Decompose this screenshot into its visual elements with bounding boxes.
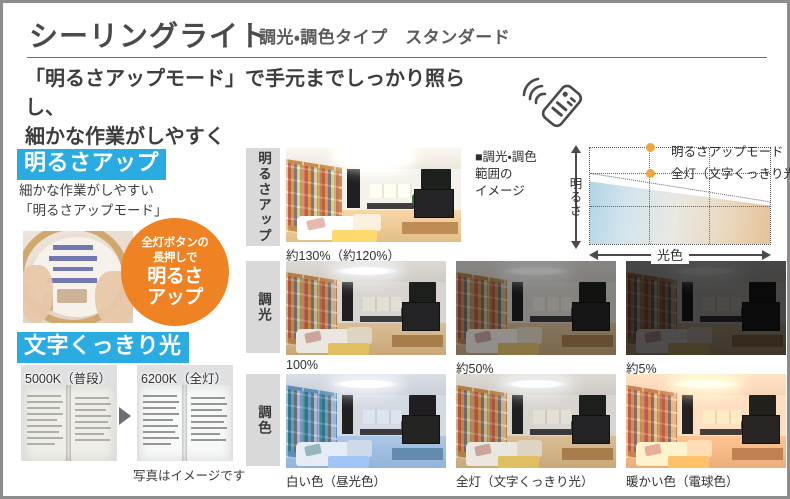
book-comparison: 5000K（普段） bbox=[21, 365, 233, 461]
photo-caption: 暖かい色（電球色） bbox=[626, 471, 739, 490]
page-title: シーリングライト bbox=[29, 13, 269, 55]
dimming-range-chart: ■調光・調色 範囲の イメージ 明るさ 明るさアップモード 全灯（文字くっきり光… bbox=[475, 137, 787, 263]
header-divider bbox=[27, 57, 767, 58]
circle-badge-small-2: 長押しで bbox=[153, 251, 197, 266]
book-photo-5000k: 5000K（普段） bbox=[21, 365, 117, 461]
x-axis-arrow-right-icon bbox=[762, 250, 771, 260]
living-room-photo bbox=[626, 261, 786, 355]
book-caption-6200k: 6200K（全灯） bbox=[141, 368, 227, 387]
brightness-description: 細かな作業がしやすい 「明るさアップモード」 bbox=[19, 181, 229, 220]
page-subtitle: 調光・調色タイプ スタンダード bbox=[259, 23, 510, 48]
chart-legend-full-light: 全灯（文字くっきり光） bbox=[671, 163, 790, 182]
photo-cell: 白い色（昼光色） bbox=[286, 374, 446, 468]
photo-cell: 100% bbox=[286, 261, 446, 355]
x-axis-label: 光色 bbox=[651, 245, 689, 264]
brightness-desc-line-1: 細かな作業がしやすい bbox=[19, 181, 229, 201]
chart-plot-area bbox=[589, 147, 771, 245]
chart-title-line-1: ■調光・調色 bbox=[475, 149, 561, 166]
chart-marker-brightness-up bbox=[646, 143, 655, 152]
photo-cell: 暖かい色（電球色） bbox=[626, 374, 786, 468]
photo-cell: 約5% bbox=[626, 261, 786, 355]
chart-marker-full-light bbox=[646, 169, 655, 178]
comparison-arrow-icon bbox=[119, 407, 131, 425]
badge-crisp-text-light: 文字くっきり光 bbox=[17, 332, 189, 363]
y-axis-label: 明るさ bbox=[567, 149, 583, 245]
brightness-up-circle-badge: 全灯ボタンの 長押しで 明るさ アップ bbox=[121, 218, 229, 326]
photo-caption: 100% bbox=[286, 358, 318, 372]
living-room-photo bbox=[626, 374, 786, 468]
photo-disclaimer: 写真はイメージです bbox=[133, 465, 245, 484]
living-room-photo bbox=[456, 261, 616, 355]
remote-control-icon bbox=[518, 73, 588, 129]
chart-legend-brightness-up: 明るさアップモード bbox=[671, 141, 784, 160]
row-label-color-tuning: 調色 bbox=[246, 374, 280, 466]
row-label-brightness-up: 明るさアップ bbox=[246, 148, 280, 246]
living-room-photo bbox=[286, 148, 461, 242]
lead-copy: 「明るさアップモード」で手元までしっかり照らし、 細かな作業がしやすく bbox=[25, 65, 495, 152]
photo-cell: 全灯（文字くっきり光） bbox=[456, 374, 616, 468]
row-label-dimming: 調光 bbox=[246, 261, 280, 353]
photo-caption: 全灯（文字くっきり光） bbox=[456, 471, 594, 490]
living-room-photo bbox=[286, 261, 446, 355]
circle-badge-big-1: 明るさ bbox=[147, 267, 203, 287]
circle-badge-big-2: アップ bbox=[147, 288, 203, 308]
chart-title-line-2: 範囲の bbox=[475, 166, 561, 183]
living-room-photo bbox=[286, 374, 446, 468]
photo-cell: 約130%（約120%） bbox=[286, 148, 461, 242]
page-header: シーリングライト 調光・調色タイプ スタンダード bbox=[3, 3, 787, 55]
brightness-desc-line-2: 「明るさアップモード」 bbox=[19, 201, 229, 221]
chart-title: ■調光・調色 範囲の イメージ bbox=[475, 149, 561, 200]
catalog-page: シーリングライト 調光・調色タイプ スタンダード 「明るさアップモード」で手元ま… bbox=[0, 0, 790, 499]
book-photo-6200k: 6200K（全灯） bbox=[137, 365, 233, 461]
embroidery-photo bbox=[23, 231, 133, 323]
photo-cell: 約50% bbox=[456, 261, 616, 355]
chart-title-line-3: イメージ bbox=[475, 183, 561, 200]
lead-line-1: 「明るさアップモード」で手元までしっかり照らし、 bbox=[25, 68, 465, 119]
book-caption-5000k: 5000K（普段） bbox=[25, 368, 111, 387]
badge-brightness-up: 明るさアップ bbox=[17, 149, 166, 180]
circle-badge-small-1: 全灯ボタンの bbox=[141, 236, 208, 251]
living-room-photo bbox=[456, 374, 616, 468]
photo-caption: 白い色（昼光色） bbox=[286, 471, 386, 490]
